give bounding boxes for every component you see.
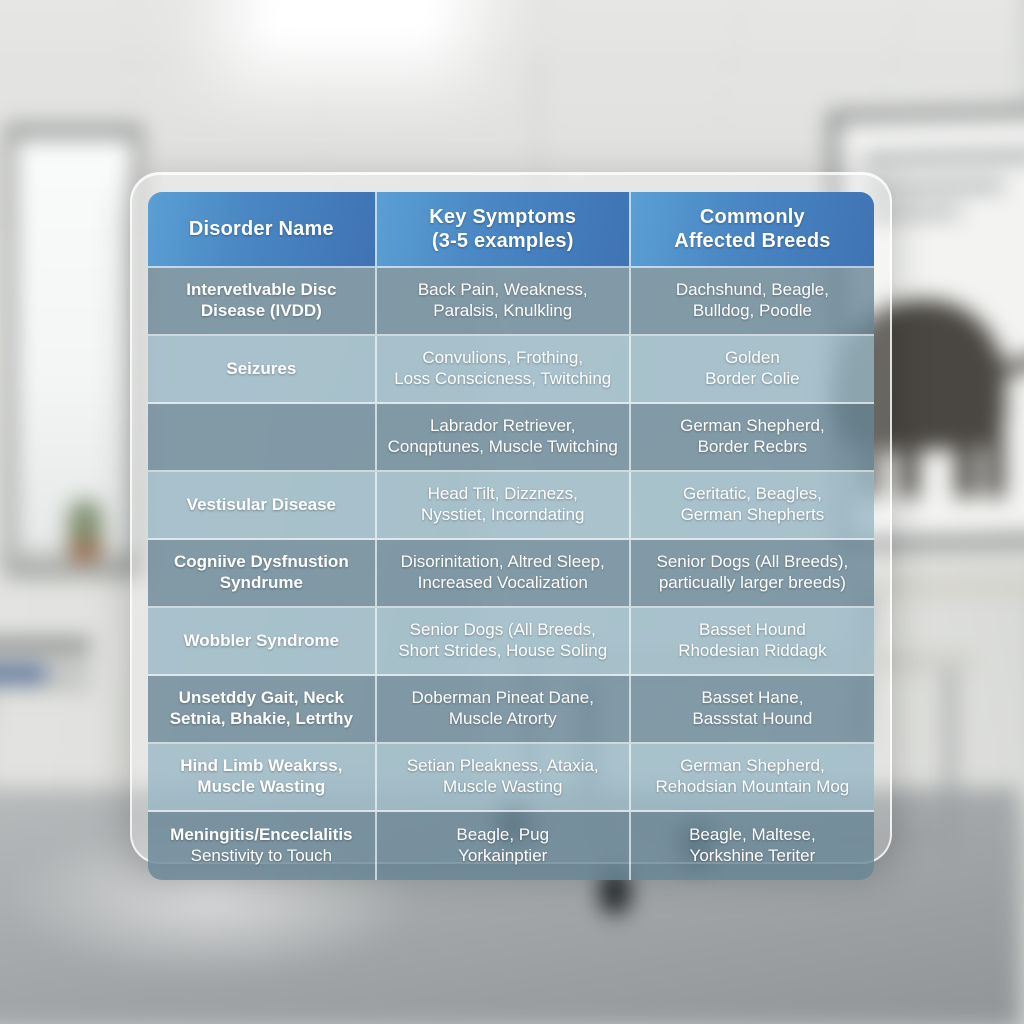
cell-line-1: Dachshund, Beagle, [641,280,864,301]
table-row: Vestisular Disease Head Tilt, Dizznezs, … [148,472,874,540]
cell-disorder: Unsetddy Gait, Neck Setnia, Bhakie, Letr… [148,676,377,744]
table-body: Intervetlvable Disc Disease (IVDD) Back … [148,268,874,880]
ceiling-light-panel [260,0,456,40]
cell-line-1: Labrador Retriever, [387,416,619,437]
cell-line-1: Senior Dogs (All Breeds, [387,620,619,641]
table-row: Unsetddy Gait, Neck Setnia, Bhakie, Letr… [148,676,874,744]
header-line-1: Commonly [641,205,864,229]
cell-line-1: Golden [641,348,864,369]
cell-disorder [148,404,377,472]
cell-symptoms: Head Tilt, Dizznezs, Nysstiet, Incorndat… [377,472,631,540]
cell-disorder: Seizures [148,336,377,404]
header-line-2: Affected Breeds [641,229,864,253]
cell-line-1: Vestisular Disease [158,495,365,516]
cell-line-2: Border Colie [641,369,864,390]
cell-symptoms: Convulions, Frothing, Loss Conscicness, … [377,336,631,404]
table-row: Hind Limb Weakrss, Muscle Wasting Setian… [148,744,874,812]
cell-line-1: Setian Pleakness, Ataxia, [387,756,619,777]
cell-breeds: Beagle, Maltese, Yorkshine Teriter [631,812,874,880]
cell-line-2: German Shepherts [641,505,864,526]
column-header-key-symptoms: Key Symptoms (3-5 examples) [377,192,631,268]
cell-disorder: Cogniive Dysfnustion Syndrume [148,540,377,608]
cell-line-1: Intervetlvable Disc [158,280,365,301]
wall-equipment-indicator [0,668,46,680]
cell-line-2: Increased Vocalization [387,573,619,594]
header-line-1: Disorder Name [158,217,365,241]
cell-line-2: particually larger breeds) [641,573,864,594]
header-line-2: (3-5 examples) [387,229,619,253]
cell-line-1: Basset Hane, [641,688,864,709]
cell-line-1: Back Pain, Weakness, [387,280,619,301]
cell-symptoms: Labrador Retriever, Conqptunes, Muscle T… [377,404,631,472]
cell-breeds: Geritatic, Beagles, German Shepherts [631,472,874,540]
cell-line-1: German Shepherd, [641,756,864,777]
cell-line-1: Disorinitation, Altred Sleep, [387,552,619,573]
cell-line-2: Bassstat Hound [641,709,864,730]
cell-breeds: Golden Border Colie [631,336,874,404]
cell-line-1: Geritatic, Beagles, [641,484,864,505]
cell-breeds: Dachshund, Beagle, Bulldog, Poodle [631,268,874,336]
table-row: Intervetlvable Disc Disease (IVDD) Back … [148,268,874,336]
cell-symptoms: Doberman Pineat Dane, Muscle Atrorty [377,676,631,744]
cell-line-1: Wobbler Syndrome [158,631,365,652]
cell-line-2: Conqptunes, Muscle Twitching [387,437,619,458]
screenshot-stage: Disorder Name Key Symptoms (3-5 examples… [0,0,1024,1024]
cell-line-1: Cogniive Dysfnustion [158,552,365,573]
cell-symptoms: Beagle, Pug Yorkainptier [377,812,631,880]
cell-line-2: Muscle Wasting [158,777,365,798]
plant-pot [70,540,100,562]
cell-breeds: German Shepherd, Border Recbrs [631,404,874,472]
cell-symptoms: Disorinitation, Altred Sleep, Increased … [377,540,631,608]
cell-line-2: Yorkshine Teriter [641,846,864,867]
table-row: Seizures Convulions, Frothing, Loss Cons… [148,336,874,404]
cell-line-2: Yorkainptier [387,846,619,867]
cell-disorder: Intervetlvable Disc Disease (IVDD) [148,268,377,336]
table-header: Disorder Name Key Symptoms (3-5 examples… [148,192,874,268]
window-sill [0,552,134,566]
cell-symptoms: Back Pain, Weakness, Paralsis, Knulkling [377,268,631,336]
cell-line-1: Doberman Pineat Dane, [387,688,619,709]
table-row: Cogniive Dysfnustion Syndrume Disorinita… [148,540,874,608]
cell-line-2: Nysstiet, Incorndating [387,505,619,526]
header-row: Disorder Name Key Symptoms (3-5 examples… [148,192,874,268]
cell-line-1: Convulions, Frothing, [387,348,619,369]
cell-line-2: Muscle Wasting [387,777,619,798]
cell-line-1: Unsetddy Gait, Neck [158,688,365,709]
disorders-table: Disorder Name Key Symptoms (3-5 examples… [148,192,874,880]
table-row: Labrador Retriever, Conqptunes, Muscle T… [148,404,874,472]
cell-line-2: Rehodsian Mountain Mog [641,777,864,798]
cell-line-1: Basset Hound [641,620,864,641]
cell-breeds: Basset Hane, Bassstat Hound [631,676,874,744]
cell-line-1: Hind Limb Weakrss, [158,756,365,777]
cell-disorder: Wobbler Syndrome [148,608,377,676]
column-header-disorder-name: Disorder Name [148,192,377,268]
table-row: Wobbler Syndrome Senior Dogs (All Breeds… [148,608,874,676]
cell-line-2: Syndrume [158,573,365,594]
cell-line-1: Seizures [158,359,365,380]
cell-line-2: Short Strides, House Soling [387,641,619,662]
cell-line-1: Beagle, Pug [387,825,619,846]
cell-line-1: Beagle, Maltese, [641,825,864,846]
wall-equipment-box [0,640,90,693]
cell-line-1: Head Tilt, Dizznezs, [387,484,619,505]
cell-breeds: Basset Hound Rhodesian Riddagk [631,608,874,676]
cell-disorder: Meningitis/Enceclalitis Senstivity to To… [148,812,377,880]
cell-line-2: Setnia, Bhakie, Letrthy [158,709,365,730]
cell-breeds: German Shepherd, Rehodsian Mountain Mog [631,744,874,812]
header-line-1: Key Symptoms [387,205,619,229]
column-header-affected-breeds: Commonly Affected Breeds [631,192,874,268]
cell-line-2: Senstivity to Touch [158,846,365,867]
table-row: Meningitis/Enceclalitis Senstivity to To… [148,812,874,880]
cell-disorder: Hind Limb Weakrss, Muscle Wasting [148,744,377,812]
cell-line-2: Disease (IVDD) [158,301,365,322]
cell-line-2: Paralsis, Knulkling [387,301,619,322]
cell-line-2: Rhodesian Riddagk [641,641,864,662]
cell-line-2: Bulldog, Poodle [641,301,864,322]
cell-line-2: Muscle Atrorty [387,709,619,730]
cell-symptoms: Setian Pleakness, Ataxia, Muscle Wasting [377,744,631,812]
cell-symptoms: Senior Dogs (All Breeds, Short Strides, … [377,608,631,676]
cell-line-2: Loss Conscicness, Twitching [387,369,619,390]
cell-disorder: Vestisular Disease [148,472,377,540]
info-card: Disorder Name Key Symptoms (3-5 examples… [130,172,892,864]
cell-line-1: Senior Dogs (All Breeds), [641,552,864,573]
cell-line-2: Border Recbrs [641,437,864,458]
cell-line-1: Meningitis/Enceclalitis [158,825,365,846]
cell-breeds: Senior Dogs (All Breeds), particually la… [631,540,874,608]
cell-line-1: German Shepherd, [641,416,864,437]
